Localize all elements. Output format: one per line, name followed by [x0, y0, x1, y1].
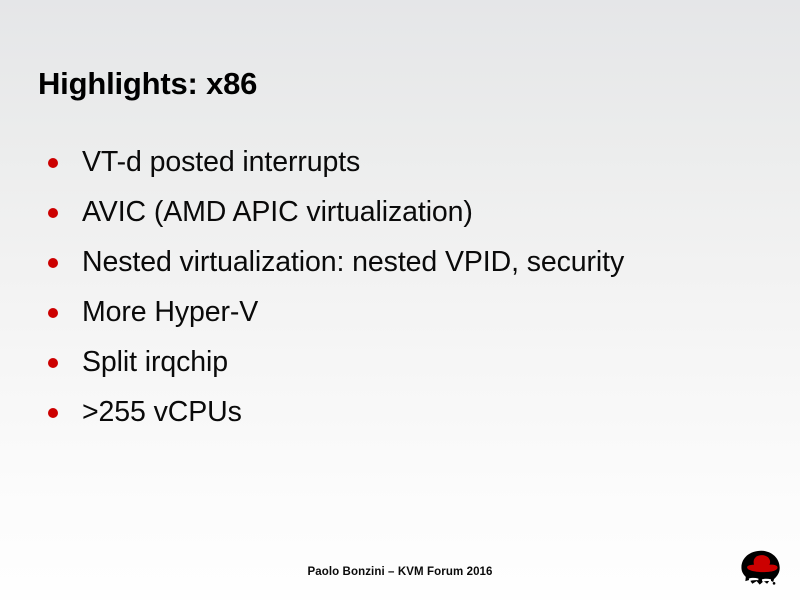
list-item-label: >255 vCPUs: [82, 397, 242, 428]
slide-footer: Paolo Bonzini – KVM Forum 2016: [0, 566, 800, 578]
bullet-list: VT-d posted interrupts AVIC (AMD APIC vi…: [42, 138, 762, 438]
list-item: AVIC (AMD APIC virtualization): [42, 188, 762, 238]
list-item-label: More Hyper-V: [82, 297, 258, 328]
bullet-dot-icon: [48, 308, 58, 318]
list-item-label: Split irqchip: [82, 347, 228, 378]
list-item-label: VT-d posted interrupts: [82, 147, 360, 178]
list-item-label: Nested virtualization: nested VPID, secu…: [82, 247, 624, 278]
list-item: Split irqchip: [42, 338, 762, 388]
list-item: More Hyper-V: [42, 288, 762, 338]
list-item: >255 vCPUs: [42, 388, 762, 438]
bullet-dot-icon: [48, 258, 58, 268]
bullet-dot-icon: [48, 408, 58, 418]
red-hat-shadowman-icon: [739, 549, 783, 589]
list-item: Nested virtualization: nested VPID, secu…: [42, 238, 762, 288]
red-hat-shadowman-logo: [739, 549, 783, 589]
list-item-label: AVIC (AMD APIC virtualization): [82, 197, 473, 228]
bullet-dot-icon: [48, 358, 58, 368]
bullet-dot-icon: [48, 208, 58, 218]
presentation-slide: Highlights: x86 VT-d posted interrupts A…: [0, 0, 800, 600]
bullet-dot-icon: [48, 158, 58, 168]
slide-title: Highlights: x86: [38, 68, 257, 101]
list-item: VT-d posted interrupts: [42, 138, 762, 188]
